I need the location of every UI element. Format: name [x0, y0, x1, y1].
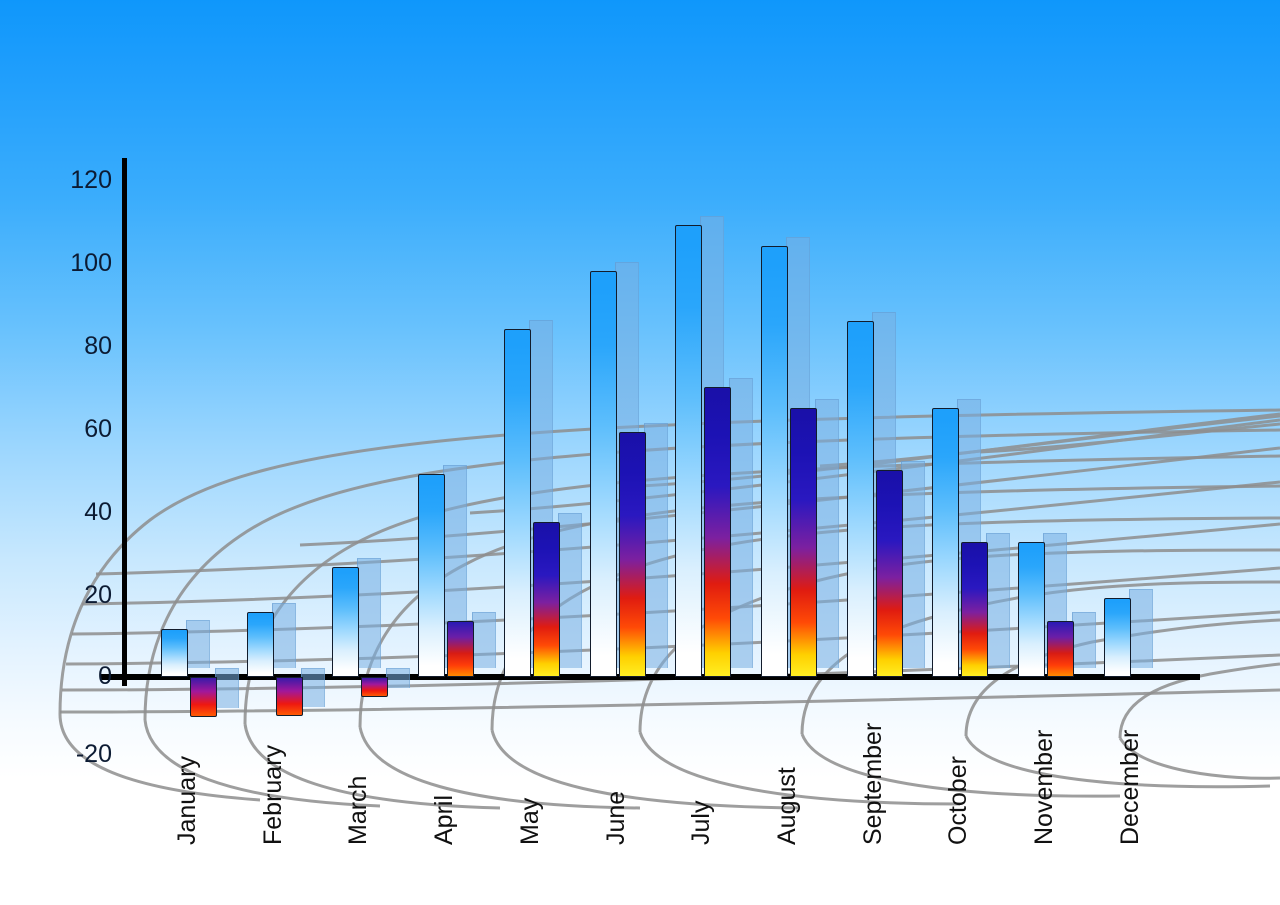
x-label-july: July	[689, 801, 714, 845]
x-label-november: November	[1032, 730, 1057, 845]
x-label-february: February	[261, 745, 286, 845]
x-label-december: December	[1118, 730, 1143, 845]
x-label-january: January	[175, 756, 200, 845]
x-label-april: April	[432, 795, 457, 845]
x-label-september: September	[861, 723, 886, 845]
x-label-march: March	[346, 776, 371, 845]
x-label-june: June	[604, 791, 629, 845]
x-label-may: May	[518, 798, 543, 845]
x-axis-labels: JanuaryFebruaryMarchAprilMayJuneJulyAugu…	[0, 0, 1280, 905]
x-label-august: August	[775, 767, 800, 845]
chart-canvas: 120 100 80 60 40 20 0 -20 JanuaryFebruar…	[0, 0, 1280, 905]
x-label-october: October	[946, 756, 971, 845]
